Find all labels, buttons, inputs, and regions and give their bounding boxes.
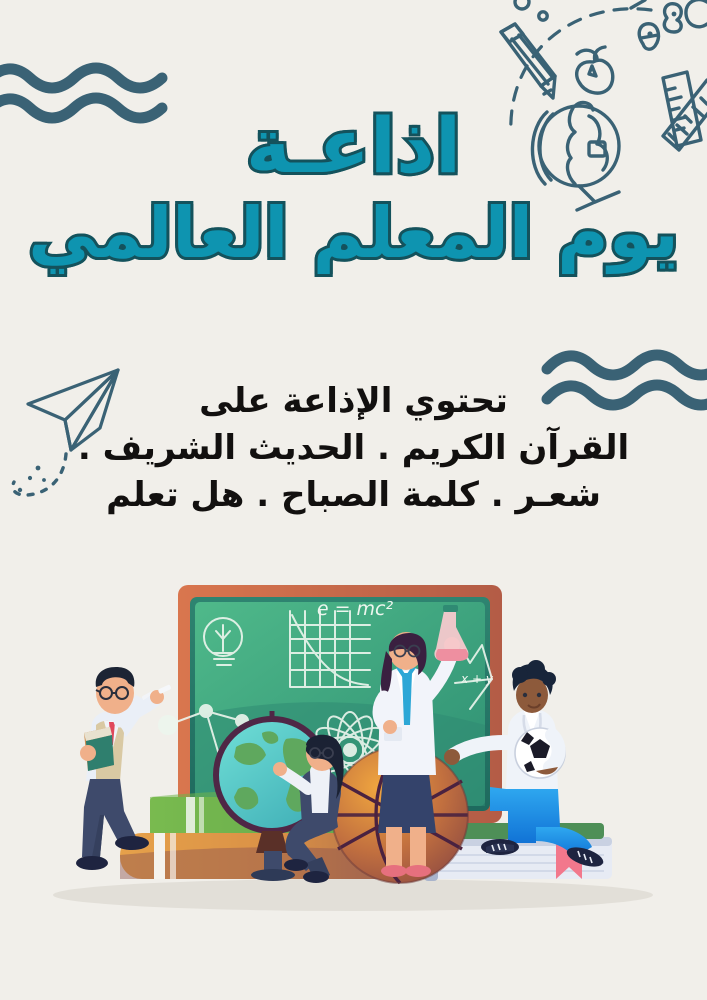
body-line-1: تحتوي الإذاعة على (0, 378, 707, 425)
body-text: تحتوي الإذاعة على القرآن الكريم . الحديث… (0, 378, 707, 519)
title-line-1: اذاعـة (0, 108, 707, 184)
body-line-2: القرآن الكريم . الحديث الشريف . (0, 425, 707, 472)
chalkboard-algebra: x + y (460, 672, 494, 686)
poster-canvas: اذاعـة يوم المعلم العالمي تحتوي الإذاعة … (0, 0, 707, 1000)
chalkboard-equation: e = mc² (317, 598, 394, 620)
abc-icon (631, 0, 707, 49)
body-line-3: شعـر . كلمة الصباح . هل تعلم (0, 472, 707, 519)
ground-shadow (53, 879, 653, 911)
pencil-icon (501, 24, 555, 98)
title-line-2: يوم المعلم العالمي (0, 198, 707, 268)
page-title: اذاعـة يوم المعلم العالمي (0, 108, 707, 268)
teachers-classroom-illustration: e = mc² x + y (0, 575, 707, 1000)
apple-icon (577, 47, 613, 93)
